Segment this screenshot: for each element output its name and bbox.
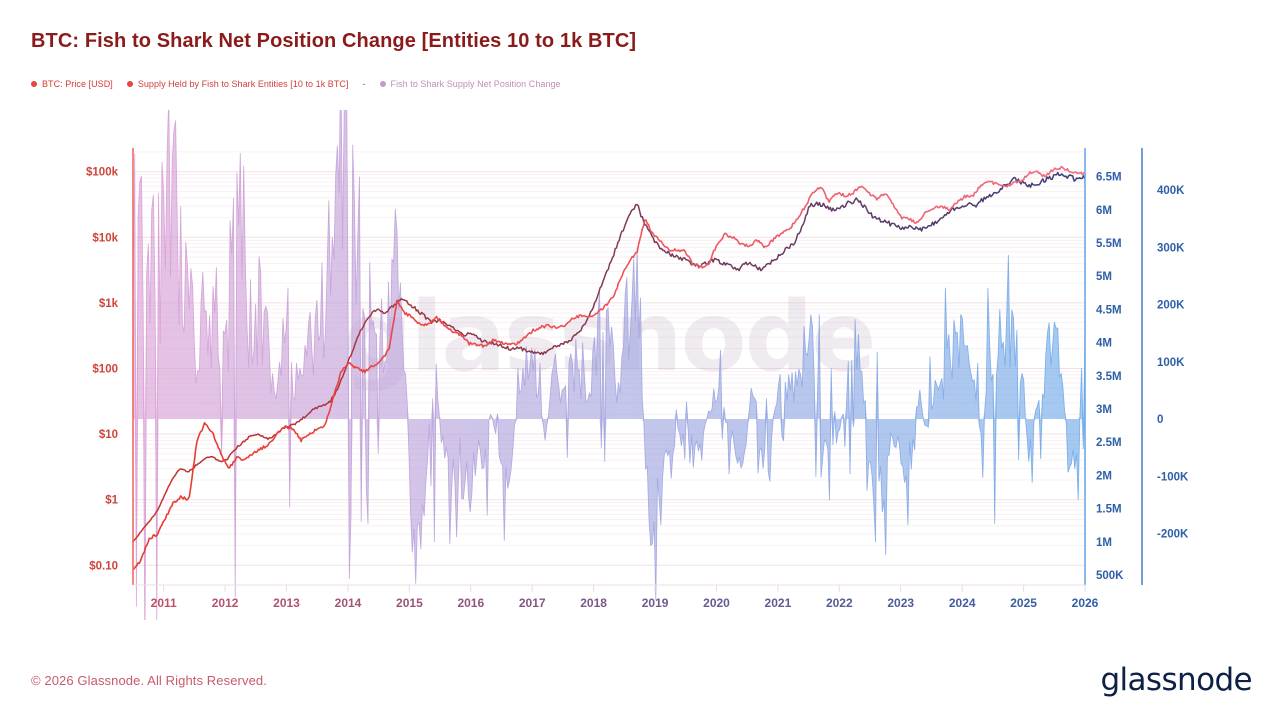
y-axis-left-tick-label: $0.10 [89,560,118,572]
y-axis-left-tick-label: $1 [105,495,118,507]
y-axis-right-tick-label: 1.5M [1096,504,1122,516]
y-axis-left-tick-label: $1k [99,298,119,310]
page-title: BTC: Fish to Shark Net Position Change [… [31,30,636,53]
y-axis-outer-tick-label: 300K [1157,242,1185,254]
legend-item-supply[interactable]: Supply Held by Fish to Shark Entities [1… [127,79,349,89]
y-axis-outer-tick-label: 400K [1157,185,1185,197]
legend-color-dot-price [31,81,37,87]
y-axis-left-tick-label: $100 [92,364,118,376]
y-axis-right-tick-label: 500K [1096,570,1124,582]
legend-item-price[interactable]: BTC: Price [USD] [31,79,113,89]
y-axis-right-tick-label: 4M [1096,338,1112,350]
y-axis-right-tick-label: 2M [1096,470,1112,482]
legend-label-net-position-change: Fish to Shark Supply Net Position Change [391,79,561,89]
y-axis-left-tick-label: $10k [92,232,118,244]
y-axis-outer-tick-label: 0 [1157,414,1163,426]
y-axis-left-tick-label: $10 [99,429,118,441]
x-axis-tick-label: 2022 [826,596,853,610]
y-axis-right-tick-label: 6M [1096,205,1112,217]
y-axis-right-tick-label: 2.5M [1096,437,1122,449]
y-axis-right-tick-label: 4.5M [1096,304,1122,316]
glassnode-logo: glassnode [1100,662,1252,698]
y-axis-right-tick-label: 3.5M [1096,371,1122,383]
legend-separator: - [363,79,366,89]
x-axis-tick-label: 2015 [396,596,423,610]
x-axis-tick-label: 2014 [335,596,362,610]
y-axis-left-tick-label: $100k [86,167,119,179]
chart-canvas[interactable]: glassnode$100k$10k$1k$100$10$1$0.106.5M6… [0,110,1280,620]
footer-copyright: © 2026 Glassnode. All Rights Reserved. [31,673,267,688]
chart-legend: BTC: Price [USD] Supply Held by Fish to … [31,79,575,89]
y-axis-outer-tick-label: -100K [1157,471,1189,483]
x-axis-tick-label: 2024 [949,596,976,610]
y-axis-outer-tick-label: 100K [1157,357,1185,369]
x-axis-tick-label: 2025 [1010,596,1037,610]
x-axis-tick-label: 2012 [212,596,239,610]
y-axis-right-tick-label: 5.5M [1096,238,1122,250]
x-axis-tick-label: 2020 [703,596,730,610]
x-axis-tick-label: 2017 [519,596,546,610]
x-axis-tick-label: 2026 [1072,596,1099,610]
x-axis-tick-label: 2019 [642,596,669,610]
y-axis-right-tick-label: 5M [1096,271,1112,283]
legend-color-dot-net-position-change [380,81,386,87]
y-axis-right-tick-label: 1M [1096,537,1112,549]
y-axis-outer-labels: 400K300K200K100K0-100K-200K [1157,185,1189,540]
legend-label-supply: Supply Held by Fish to Shark Entities [1… [138,79,349,89]
x-axis-tick-label: 2023 [887,596,914,610]
x-axis-tick-label: 2021 [765,596,792,610]
legend-item-net-position-change[interactable]: Fish to Shark Supply Net Position Change [380,79,561,89]
x-axis-labels: 2011201220132014201520162017201820192020… [151,585,1099,610]
y-axis-outer-tick-label: -200K [1157,529,1189,541]
legend-color-dot-supply [127,81,133,87]
y-axis-right-tick-label: 6.5M [1096,172,1122,184]
y-axis-right-tick-label: 3M [1096,404,1112,416]
x-axis-tick-label: 2016 [457,596,484,610]
legend-label-price: BTC: Price [USD] [42,79,113,89]
y-axis-right-labels: 6.5M6M5.5M5M4.5M4M3.5M3M2.5M2M1.5M1M500K [1096,172,1124,582]
chart-plot-area[interactable]: glassnode$100k$10k$1k$100$10$1$0.106.5M6… [0,110,1280,620]
x-axis-tick-label: 2018 [580,596,607,610]
x-axis-tick-label: 2011 [151,596,177,610]
x-axis-tick-label: 2013 [273,596,300,610]
y-axis-left-labels: $100k$10k$1k$100$10$1$0.10 [86,167,119,573]
y-axis-outer-tick-label: 200K [1157,300,1185,312]
